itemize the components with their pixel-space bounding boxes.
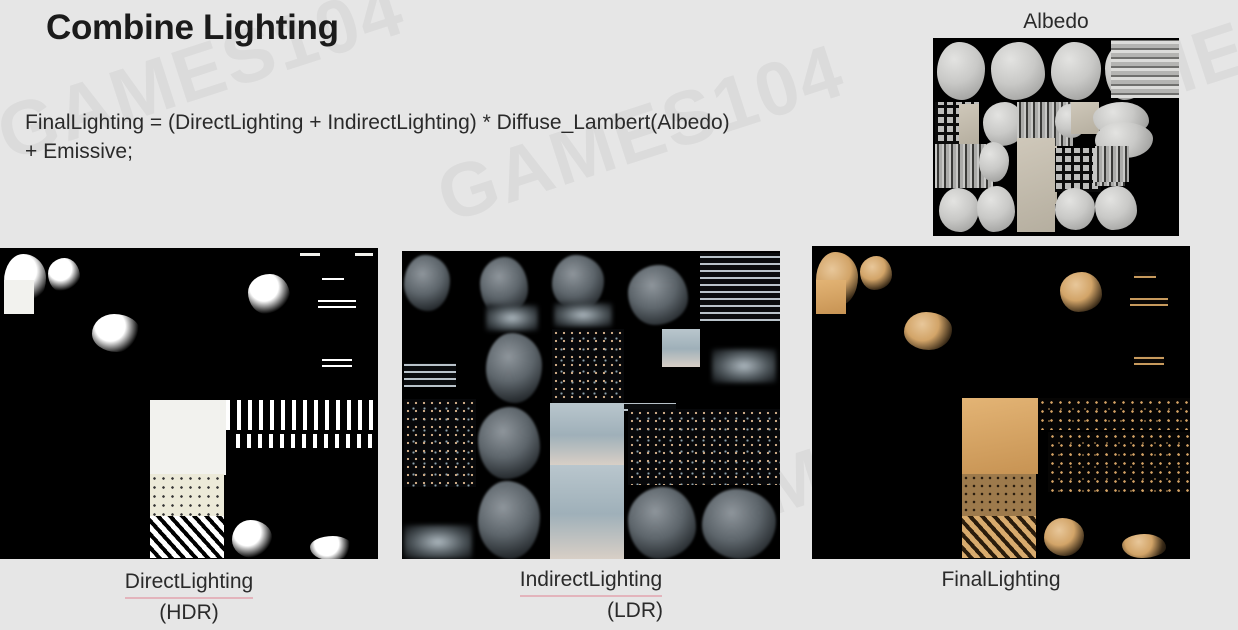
caption-final-lighting: FinalLighting	[812, 566, 1190, 594]
caption-indirect-lighting-line1: IndirectLighting	[520, 566, 662, 597]
albedo-block: Albedo	[933, 10, 1179, 236]
page-title: Combine Lighting	[46, 8, 339, 48]
formula-block: FinalLighting = (DirectLighting + Indire…	[25, 108, 855, 166]
formula-line-1: FinalLighting = (DirectLighting + Indire…	[25, 108, 855, 137]
albedo-thumbnail	[933, 38, 1179, 236]
panel-final-lighting	[812, 246, 1190, 559]
panel-direct-lighting	[0, 248, 378, 559]
caption-final-lighting-line1: FinalLighting	[941, 568, 1060, 591]
albedo-label: Albedo	[933, 10, 1179, 34]
caption-direct-lighting-line1: DirectLighting	[125, 568, 253, 599]
panel-indirect-lighting	[402, 251, 780, 559]
caption-indirect-lighting: IndirectLighting (LDR)	[402, 566, 780, 625]
caption-direct-lighting: DirectLighting (HDR)	[0, 568, 378, 627]
caption-direct-lighting-line2: (HDR)	[0, 599, 378, 627]
caption-indirect-lighting-line2: (LDR)	[402, 597, 780, 625]
slide-canvas: GAMES104 GAMES104 GAMES104 GAMES104 Comb…	[0, 0, 1238, 630]
formula-line-2: + Emissive;	[25, 137, 855, 166]
